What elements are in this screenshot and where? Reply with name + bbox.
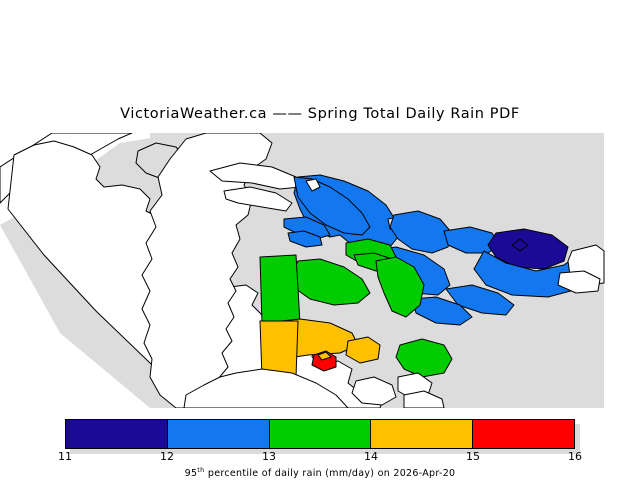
- colorbar-segment-13-14[interactable]: [270, 420, 372, 448]
- colorbar-track[interactable]: [65, 419, 575, 449]
- colorbar-segment-14-15[interactable]: [371, 420, 473, 448]
- page-title: VictoriaWeather.ca —— Spring Total Daily…: [0, 106, 640, 122]
- figure: VictoriaWeather.ca —— Spring Total Daily…: [0, 0, 640, 480]
- colorbar-caption: 95th percentile of daily rain (mm/day) o…: [0, 466, 640, 479]
- map-panel[interactable]: [0, 133, 640, 408]
- colorbar-tick-13: 13: [262, 450, 276, 463]
- colorbar-tick-12: 12: [160, 450, 174, 463]
- caption-superscript: th: [197, 466, 204, 474]
- colorbar-segment-11-12[interactable]: [66, 420, 168, 448]
- caption-rest: percentile of daily rain (mm/day) on 202…: [205, 468, 456, 479]
- colorbar-tick-14: 14: [364, 450, 378, 463]
- colorbar-tick-11: 11: [58, 450, 72, 463]
- region-saanich-green-block: [260, 255, 300, 323]
- colorbar: 111213141516 95th percentile of daily ra…: [0, 414, 640, 480]
- colorbar-segment-15-16[interactable]: [473, 420, 574, 448]
- colorbar-segment-12-13[interactable]: [168, 420, 270, 448]
- caption-prefix: 95: [185, 468, 198, 479]
- colorbar-tick-16: 16: [568, 450, 582, 463]
- map-svg[interactable]: [0, 133, 640, 408]
- region-victoria-orange-block: [260, 321, 298, 377]
- colorbar-tick-15: 15: [466, 450, 480, 463]
- colorbar-ticks: 111213141516: [0, 450, 640, 466]
